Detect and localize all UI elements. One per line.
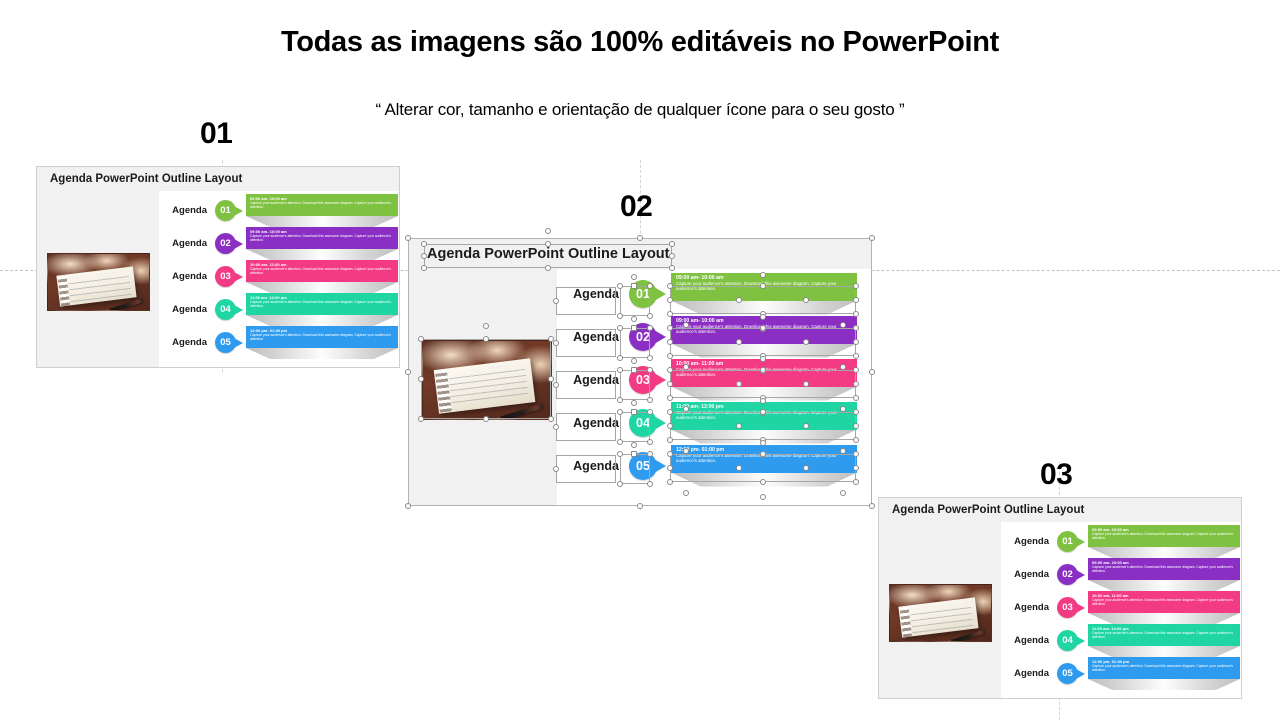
panel-number-01: 01 [200,117,232,151]
agenda-desc: Capture your audience's attention. Downl… [250,267,394,276]
agenda-number-circle[interactable]: 05 [1057,663,1078,684]
agenda-desc: Capture your audience's attention. Downl… [676,281,852,293]
agenda-banner[interactable]: 12:00 pm- 01:00 pm Capture your audience… [1088,657,1240,690]
callout-pointer-icon [234,206,243,216]
callout-pointer-icon [1076,636,1085,646]
agenda-banner[interactable]: 09:00 am- 10:00 am Capture your audience… [1088,525,1240,558]
panel-03-title: Agenda PowerPoint Outline Layout [892,504,1084,516]
agenda-row[interactable]: Agenda 01 09:00 am- 10:00 am Capture you… [557,272,867,315]
agenda-number-circle[interactable]: 01 [1057,531,1078,552]
banner-tail [671,430,857,444]
agenda-row[interactable]: Agenda 05 12:00 pm- 01:00 pm Capture you… [159,326,399,359]
agenda-panel-02[interactable]: Agenda PowerPoint Outline Layout Agenda … [408,238,872,506]
panel-number-02: 02 [620,190,652,224]
agenda-number-circle[interactable]: 01 [215,200,236,221]
agenda-banner[interactable]: 11:00 am- 12:00 pm Capture your audience… [671,402,857,444]
agenda-label: Agenda [159,238,207,249]
agenda-number: 03 [636,373,650,387]
callout-pointer-icon [654,459,666,473]
agenda-label: Agenda [159,271,207,282]
banner-tail [671,473,857,487]
agenda-desc: Capture your audience's attention. Downl… [1092,532,1236,541]
agenda-desc: Capture your audience's attention. Downl… [676,410,852,422]
agenda-number: 05 [1062,668,1073,679]
banner-tail [1088,613,1240,624]
agenda-number: 02 [220,238,231,249]
agenda-desc: Capture your audience's attention. Downl… [676,453,852,465]
agenda-row[interactable]: Agenda 05 12:00 pm- 01:00 pm Capture you… [1001,657,1241,690]
agenda-number-circle[interactable]: 03 [629,366,657,394]
agenda-number-circle[interactable]: 02 [1057,564,1078,585]
panel-number-03: 03 [1040,458,1072,492]
agenda-panel-01[interactable]: Agenda PowerPoint Outline Layout Agenda … [36,166,400,368]
panel-01-header: Agenda PowerPoint Outline Layout [37,167,399,191]
agenda-banner[interactable]: 09:00 am- 10:00 am Capture your audience… [246,227,398,260]
panel-01-title: Agenda PowerPoint Outline Layout [50,173,242,185]
agenda-number-circle[interactable]: 05 [215,332,236,353]
callout-pointer-icon [654,416,666,430]
agenda-banner[interactable]: 09:00 am- 10:00 am Capture your audience… [246,194,398,227]
agenda-banner[interactable]: 11:00 am- 12:00 pm Capture your audience… [246,293,398,326]
agenda-desc: Capture your audience's attention. Downl… [250,300,394,309]
notebook-photo-01 [47,253,150,311]
callout-pointer-icon [654,287,666,301]
callout-pointer-icon [234,338,243,348]
panel-03-header: Agenda PowerPoint Outline Layout [879,498,1241,522]
agenda-label[interactable]: Agenda [557,373,619,387]
agenda-number: 01 [1062,536,1073,547]
banner-tail [1088,646,1240,657]
rotate-handle [545,228,551,234]
agenda-desc: Capture your audience's attention. Downl… [1092,631,1236,640]
callout-pointer-icon [654,330,666,344]
banner-tail [246,249,398,260]
agenda-number: 03 [1062,602,1073,613]
agenda-desc: Capture your audience's attention. Downl… [676,367,852,379]
agenda-row[interactable]: Agenda 01 09:00 am- 10:00 am Capture you… [1001,525,1241,558]
banner-tail [246,216,398,227]
agenda-banner[interactable]: 09:00 am- 10:00 am Capture your audience… [671,273,857,315]
agenda-number-circle[interactable]: 04 [1057,630,1078,651]
notebook-photo-02[interactable] [422,340,552,420]
callout-pointer-icon [234,272,243,282]
callout-pointer-icon [234,239,243,249]
banner-tail [246,315,398,326]
page-title: Todas as imagens são 100% editáveis no P… [0,26,1280,59]
banner-tail [1088,547,1240,558]
agenda-banner[interactable]: 12:00 pm- 01:00 pm Capture your audience… [671,445,857,487]
agenda-banner[interactable]: 12:00 pm- 01:00 pm Capture your audience… [246,326,398,359]
banner-tail [1088,580,1240,591]
agenda-banner[interactable]: 09:00 am- 10:00 am Capture your audience… [671,316,857,358]
agenda-number: 04 [1062,635,1073,646]
agenda-number-circle[interactable]: 01 [629,280,657,308]
agenda-label[interactable]: Agenda [557,416,619,430]
banner-tail [246,348,398,359]
agenda-label: Agenda [1001,569,1049,580]
page-subtitle: “ Alterar cor, tamanho e orientação de q… [0,100,1280,120]
agenda-number: 03 [220,271,231,282]
agenda-label[interactable]: Agenda [557,330,619,344]
callout-pointer-icon [234,305,243,315]
agenda-number-circle[interactable]: 03 [1057,597,1078,618]
notebook-photo-03 [889,584,992,642]
agenda-number: 01 [220,205,231,216]
agenda-banner[interactable]: 10:00 am- 11:00 am Capture your audience… [1088,591,1240,624]
callout-pointer-icon [1076,570,1085,580]
agenda-number: 04 [220,304,231,315]
banner-tail [671,344,857,358]
agenda-label: Agenda [1001,536,1049,547]
agenda-row[interactable]: Agenda 03 10:00 am- 11:00 am Capture you… [1001,591,1241,624]
agenda-number: 01 [636,287,650,301]
agenda-row[interactable]: Agenda 01 09:00 am- 10:00 am Capture you… [159,194,399,227]
callout-pointer-icon [1076,669,1085,679]
agenda-row[interactable]: Agenda 02 09:00 am- 10:00 am Capture you… [159,227,399,260]
agenda-row[interactable]: Agenda 02 09:00 am- 10:00 am Capture you… [1001,558,1241,591]
banner-tail [246,282,398,293]
agenda-banner[interactable]: 10:00 am- 11:00 am Capture your audience… [671,359,857,401]
agenda-label[interactable]: Agenda [557,459,619,473]
banner-tail [1088,679,1240,690]
panel-02-title: Agenda PowerPoint Outline Layout [427,246,670,262]
agenda-desc: Capture your audience's attention. Downl… [250,234,394,243]
agenda-row[interactable]: Agenda 03 10:00 am- 11:00 am Capture you… [159,260,399,293]
callout-pointer-icon [654,373,666,387]
callout-pointer-icon [1076,603,1085,613]
agenda-number-circle[interactable]: 05 [629,452,657,480]
callout-pointer-icon [1076,537,1085,547]
agenda-label: Agenda [1001,602,1049,613]
agenda-number-circle[interactable]: 04 [629,409,657,437]
agenda-number: 02 [1062,569,1073,580]
agenda-banner[interactable]: 09:00 am- 10:00 am Capture your audience… [1088,558,1240,591]
agenda-number: 02 [636,330,650,344]
agenda-desc: Capture your audience's attention. Downl… [250,333,394,342]
agenda-label: Agenda [159,205,207,216]
agenda-banner[interactable]: 10:00 am- 11:00 am Capture your audience… [246,260,398,293]
agenda-number: 05 [636,459,650,473]
agenda-number-circle[interactable]: 02 [629,323,657,351]
agenda-desc: Capture your audience's attention. Downl… [1092,598,1236,607]
agenda-label[interactable]: Agenda [557,287,619,301]
agenda-row[interactable]: Agenda 02 09:00 am- 10:00 am Capture you… [557,315,867,358]
agenda-number-circle[interactable]: 02 [215,233,236,254]
banner-tail [671,387,857,401]
agenda-desc: Capture your audience's attention. Downl… [1092,565,1236,574]
agenda-row[interactable]: Agenda 04 11:00 am- 12:00 pm Capture you… [1001,624,1241,657]
agenda-label: Agenda [159,337,207,348]
agenda-label: Agenda [1001,635,1049,646]
banner-tail [671,301,857,315]
agenda-desc: Capture your audience's attention. Downl… [250,201,394,210]
panel-02-header[interactable]: Agenda PowerPoint Outline Layout [409,239,871,269]
agenda-row[interactable]: Agenda 04 11:00 am- 12:00 pm Capture you… [159,293,399,326]
agenda-panel-03[interactable]: Agenda PowerPoint Outline Layout Agenda … [878,497,1242,699]
agenda-banner[interactable]: 11:00 am- 12:00 pm Capture your audience… [1088,624,1240,657]
agenda-row[interactable]: Agenda 03 10:00 am- 11:00 am Capture you… [557,358,867,401]
agenda-number-circle[interactable]: 03 [215,266,236,287]
agenda-row[interactable]: Agenda 04 11:00 am- 12:00 pm Capture you… [557,401,867,444]
agenda-number-circle[interactable]: 04 [215,299,236,320]
agenda-desc: Capture your audience's attention. Downl… [1092,664,1236,673]
agenda-row[interactable]: Agenda 05 12:00 pm- 01:00 pm Capture you… [557,444,867,487]
agenda-label: Agenda [159,304,207,315]
agenda-label: Agenda [1001,668,1049,679]
agenda-number: 05 [220,337,231,348]
agenda-number: 04 [636,416,650,430]
agenda-desc: Capture your audience's attention. Downl… [676,324,852,336]
